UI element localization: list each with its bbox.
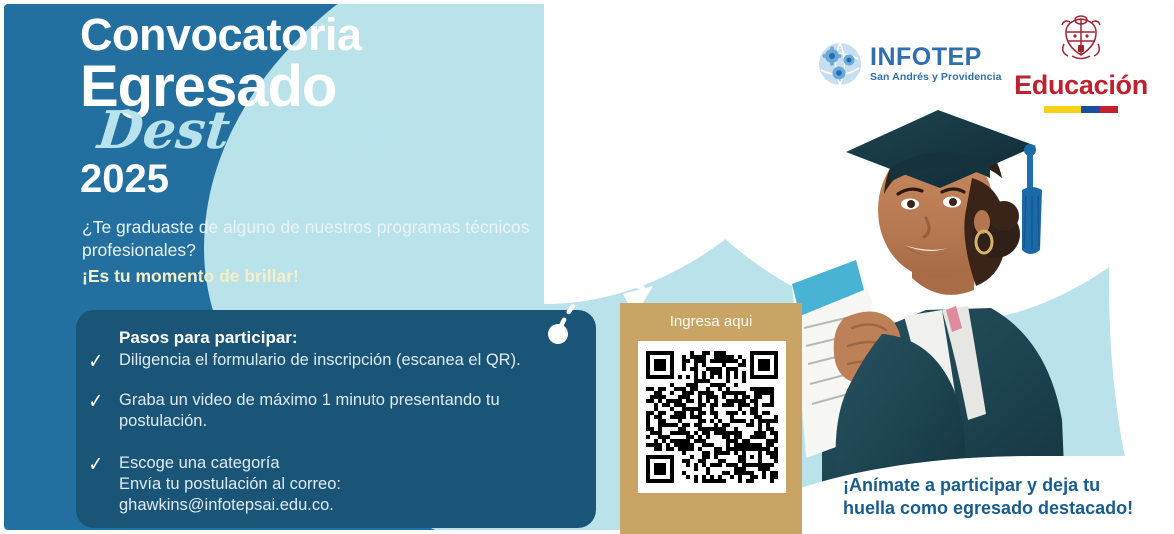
- education-logo: Educación: [1006, 14, 1156, 113]
- steps-box: Pasos para participar: ✓ Diligencia el f…: [76, 310, 596, 528]
- step-item-3: ✓ Escoge una categoría Envía tu postulac…: [119, 453, 559, 516]
- infotep-logo-text: INFOTEP San Andrés y Providencia: [870, 45, 1002, 83]
- intro-question: ¿Te graduaste de alguno de nuestros prog…: [82, 216, 602, 288]
- headline-script-destacado: Destacado: [96, 108, 603, 155]
- qr-code-frame: [638, 341, 786, 493]
- tagline-line2: huella como egresado destacado!: [843, 497, 1173, 520]
- education-logo-name: Educación: [1006, 70, 1156, 101]
- step-item-2: ✓ Graba un video de máximo 1 minuto pres…: [119, 390, 559, 432]
- headline-year: 2025: [80, 159, 600, 199]
- tagline-line1: ¡Anímate a participar y deja tu: [843, 474, 1173, 497]
- infotep-logo-subtitle: San Andrés y Providencia: [870, 72, 1002, 83]
- colombia-flag-bar-icon: [1044, 106, 1118, 113]
- globe-gears-icon: [818, 42, 862, 86]
- check-icon: ✓: [88, 348, 103, 375]
- intro-question-line2: profesionales?: [82, 239, 602, 262]
- qr-panel: Ingresa aqui: [620, 303, 802, 534]
- step-item-2-text: Graba un video de máximo 1 minuto presen…: [119, 391, 500, 430]
- check-icon: ✓: [88, 388, 103, 415]
- infotep-logo: INFOTEP San Andrés y Providencia: [818, 42, 1002, 86]
- intro-question-line1: ¿Te graduaste de alguno de nuestros prog…: [82, 216, 602, 239]
- qr-code-icon[interactable]: [646, 351, 778, 483]
- check-icon: ✓: [88, 451, 103, 478]
- step-item-1: ✓ Diligencia el formulario de inscripció…: [119, 350, 569, 371]
- steps-title: Pasos para participar:: [119, 328, 298, 348]
- poster-root: Convocatoria Egresado Destacado 2025 ¿Te…: [0, 0, 1174, 534]
- headline-line-convocatoria: Convocatoria: [80, 14, 600, 57]
- headline-block: Convocatoria Egresado Destacado 2025: [80, 14, 600, 199]
- qr-panel-label: Ingresa aqui: [620, 313, 802, 330]
- intro-callout: ¡Es tu momento de brillar!: [82, 265, 602, 288]
- step-item-1-text: Diligencia el formulario de inscripción …: [119, 351, 521, 369]
- infotep-logo-name: INFOTEP: [870, 45, 1002, 70]
- tagline: ¡Anímate a participar y deja tu huella c…: [843, 474, 1173, 519]
- step-item-3-text: Escoge una categoría Envía tu postulació…: [119, 454, 341, 514]
- colombia-coat-of-arms-icon: [1058, 14, 1104, 64]
